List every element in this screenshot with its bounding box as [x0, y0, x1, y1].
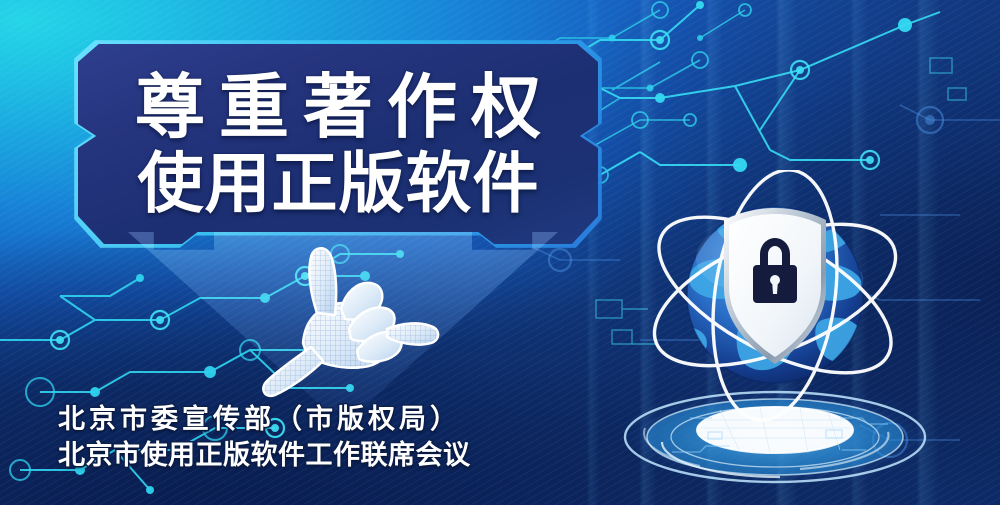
poster-root: 尊重著作权 使用正版软件: [0, 0, 1000, 505]
secure-globe: [600, 170, 960, 490]
caption-line-1: 北京市委宣传部（市版权局）: [58, 401, 578, 437]
wireframe-hand: [245, 225, 460, 400]
caption-line-2: 北京市使用正版软件工作联席会议: [58, 437, 578, 473]
poster-title: 尊重著作权 使用正版软件: [78, 44, 598, 244]
organization-caption: 北京市委宣传部（市版权局） 北京市使用正版软件工作联席会议: [58, 401, 578, 473]
title-line-1: 尊重著作权: [121, 68, 555, 146]
title-line-2: 使用正版软件: [137, 146, 540, 220]
